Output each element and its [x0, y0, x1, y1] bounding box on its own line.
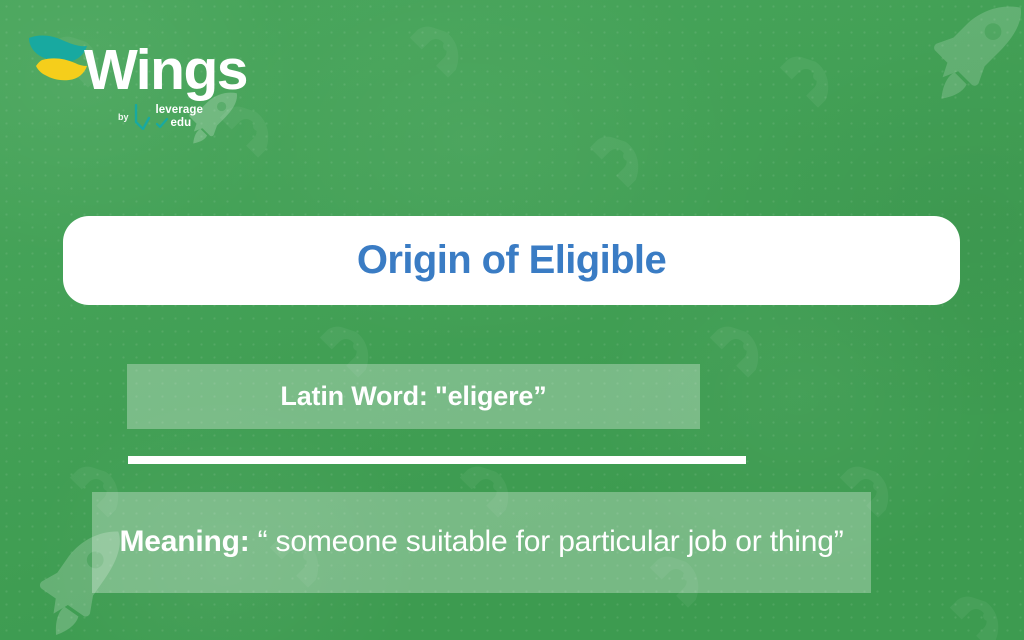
sub-brand-text: leverage edu	[156, 105, 203, 129]
page-title: Origin of Eligible	[357, 238, 666, 283]
sub-brand-line1: leverage	[156, 104, 203, 116]
rocket-icon-top-right	[921, 0, 1024, 118]
sub-brand-line2-wrap: edu	[156, 118, 203, 130]
latin-word-panel: Latin Word: "eligere”	[127, 364, 700, 429]
infographic-canvas: Wings by leverage edu Origin of Eligible…	[0, 0, 1024, 640]
meaning-panel: Meaning: “ someone suitable for particul…	[92, 492, 871, 593]
meaning-label: Meaning:	[119, 525, 249, 558]
brand-wordmark: Wings	[84, 42, 247, 99]
title-card: Origin of Eligible	[63, 216, 960, 305]
meaning-value: “ someone suitable for particular job or…	[250, 525, 844, 558]
sub-brand-by-label: by	[118, 112, 129, 122]
sub-brand-line2: edu	[171, 117, 192, 129]
meaning-text: Meaning: “ someone suitable for particul…	[105, 517, 857, 567]
checkmark-icon	[156, 118, 168, 130]
sub-brand-lockup: by leverage edu	[118, 104, 203, 130]
brand-logo[interactable]: Wings by leverage edu	[26, 22, 276, 142]
leverage-v-icon	[134, 104, 151, 130]
latin-word-text: Latin Word: "eligere”	[280, 381, 546, 412]
section-divider	[128, 456, 746, 464]
